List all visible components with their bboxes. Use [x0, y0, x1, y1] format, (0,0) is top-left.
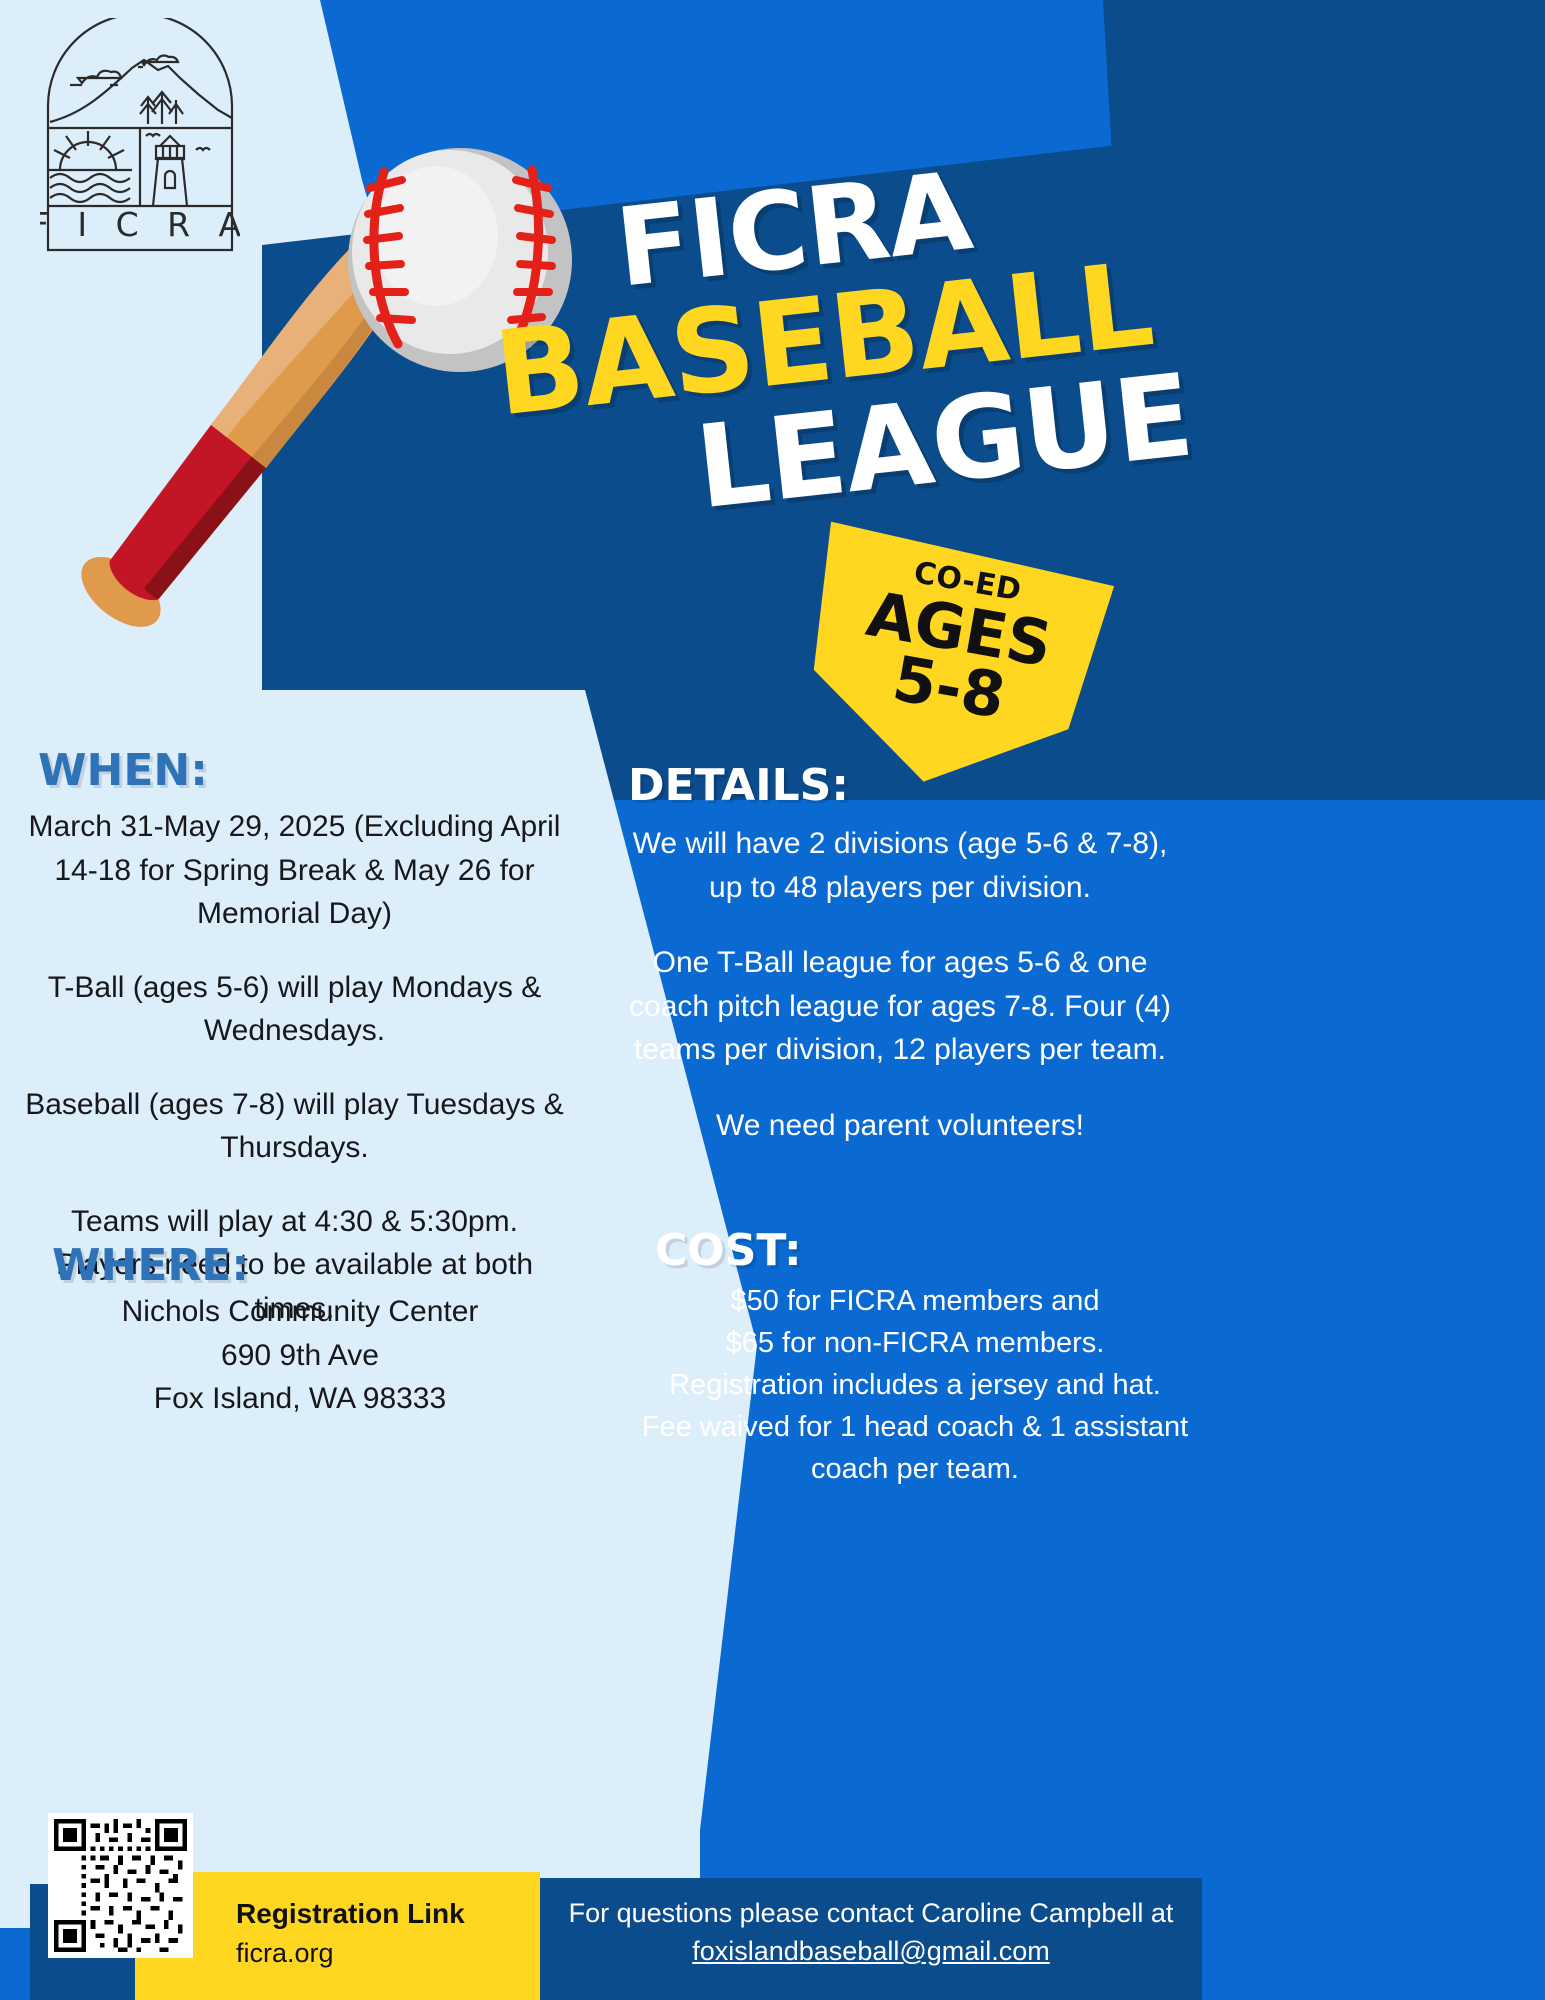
poster-title: FICRA BASEBALL LEAGUE [560, 136, 1234, 553]
registration-qr-code[interactable] [48, 1813, 193, 1958]
details-paragraph-divisions: We will have 2 divisions (age 5-6 & 7-8)… [620, 822, 1180, 909]
details-paragraph-leagues: One T-Ball league for ages 5-6 & one coa… [620, 941, 1180, 1072]
footer-email[interactable]: foxislandbaseball@gmail.com [540, 1933, 1202, 1971]
when-paragraph-dates: March 31-May 29, 2025 (Excluding April 1… [22, 805, 567, 936]
cost-line-nonmembers: $65 for non-FICRA members. [630, 1322, 1200, 1364]
venue-citystate: Fox Island, WA 98333 [40, 1377, 560, 1421]
where-heading: WHERE: [52, 1240, 249, 1291]
details-body: We will have 2 divisions (age 5-6 & 7-8)… [620, 822, 1180, 1147]
when-heading: WHEN: [38, 745, 208, 796]
venue-street: 690 9th Ave [40, 1334, 560, 1378]
venue-name: Nichols Community Center [40, 1290, 560, 1334]
footer-contact-line: For questions please contact Caroline Ca… [540, 1895, 1202, 1933]
registration-banner [135, 1872, 540, 2000]
cost-line-waiver-2: coach per team. [630, 1448, 1200, 1490]
cost-heading: COST: [655, 1225, 802, 1276]
cost-line-members: $50 for FICRA members and [630, 1280, 1200, 1322]
details-heading: DETAILS: [628, 760, 849, 811]
details-paragraph-volunteers: We need parent volunteers! [620, 1104, 1180, 1148]
footer-contact: For questions please contact Caroline Ca… [540, 1895, 1202, 1971]
where-body: Nichols Community Center 690 9th Ave Fox… [40, 1290, 560, 1421]
cost-line-includes: Registration includes a jersey and hat. [630, 1364, 1200, 1406]
registration-link-label: Registration Link [236, 1898, 465, 1930]
flyer-canvas: F I C R A [0, 0, 1545, 2000]
cost-line-waiver-1: Fee waived for 1 head coach & 1 assistan… [630, 1406, 1200, 1448]
registration-url[interactable]: ficra.org [236, 1938, 334, 1969]
when-paragraph-baseball: Baseball (ages 7-8) will play Tuesdays &… [22, 1083, 567, 1170]
cost-body: $50 for FICRA members and $65 for non-FI… [630, 1280, 1200, 1490]
badge-ages-range: 5-8 [889, 649, 1010, 726]
when-paragraph-tball: T-Ball (ages 5-6) will play Mondays & We… [22, 966, 567, 1053]
